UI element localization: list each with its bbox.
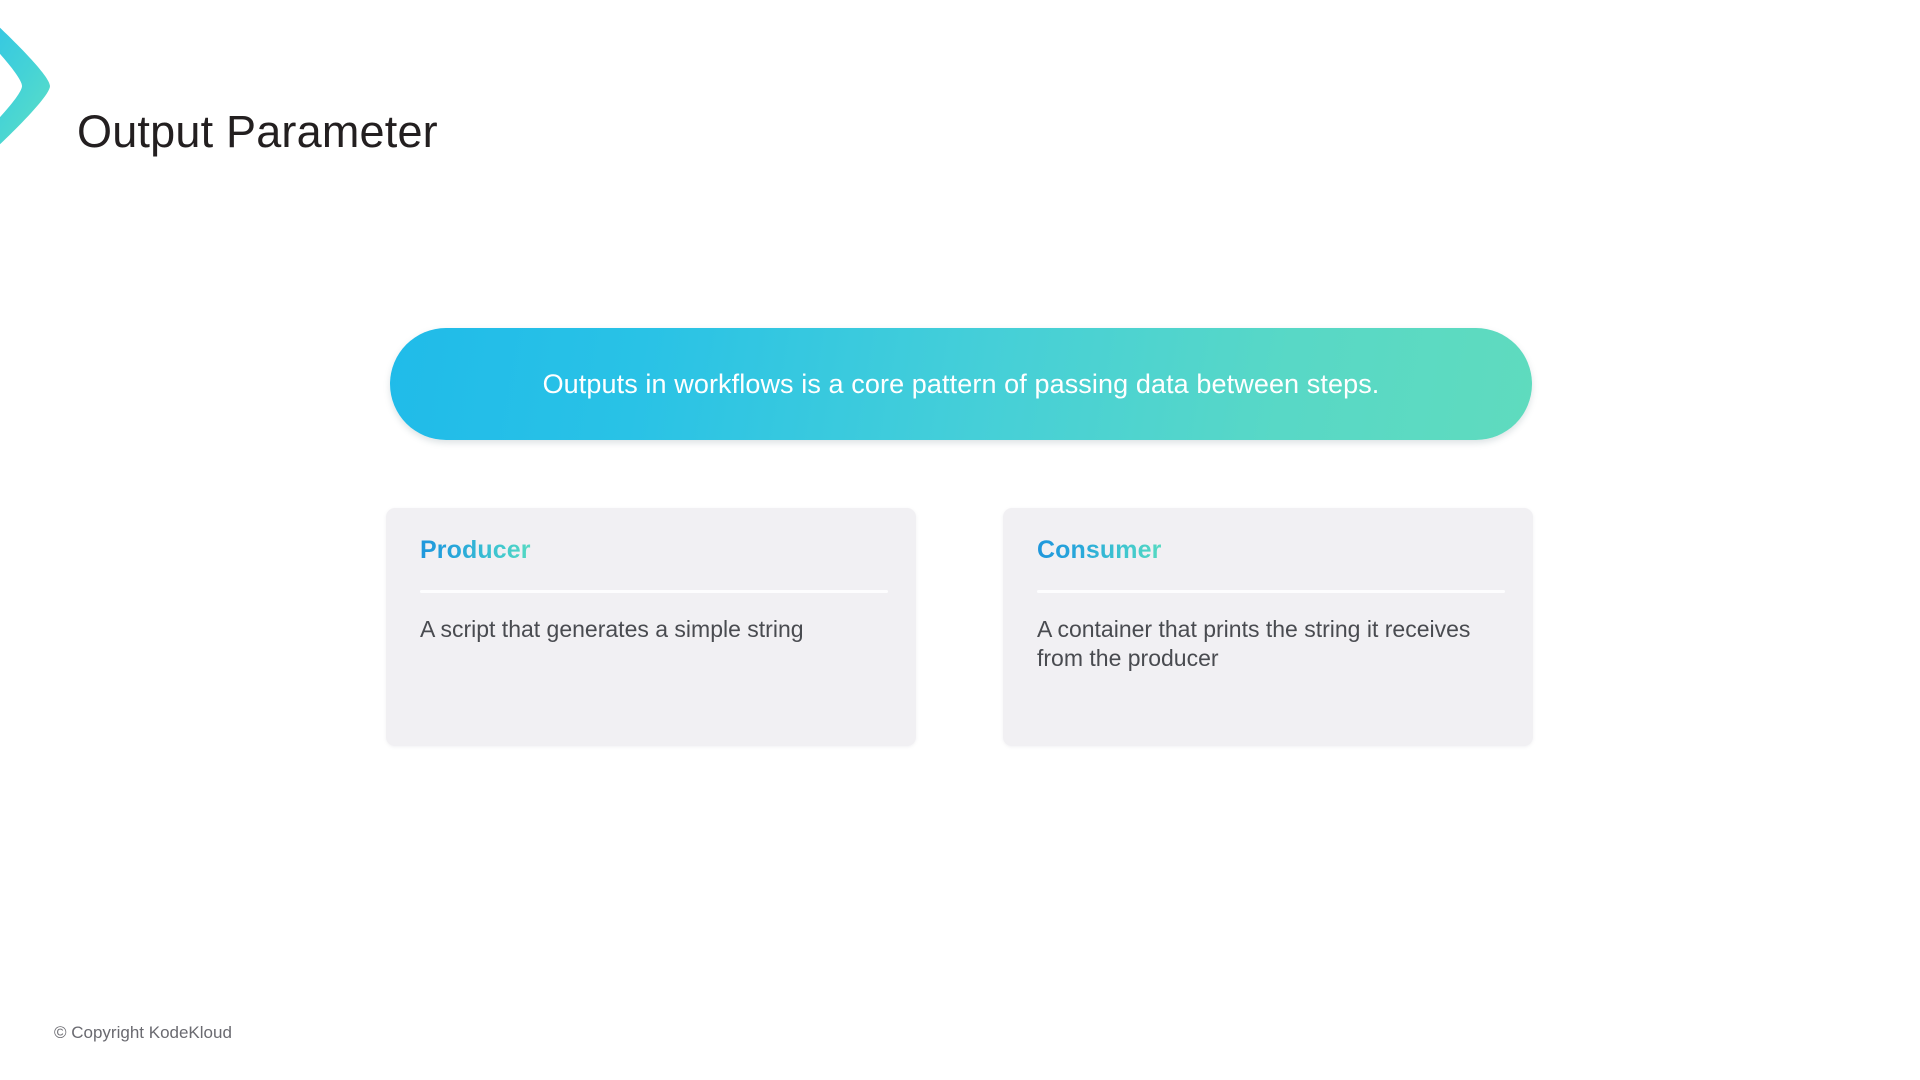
highlight-banner: Outputs in workflows is a core pattern o…: [390, 328, 1532, 440]
concept-card-producer: Producer A script that generates a simpl…: [386, 508, 916, 746]
chevron-right-logo-icon: [0, 22, 62, 150]
concept-card-producer-body: A script that generates a simple string: [420, 615, 882, 644]
concept-card-consumer-title: Consumer: [1037, 536, 1161, 565]
highlight-banner-text: Outputs in workflows is a core pattern o…: [503, 369, 1420, 400]
concept-cards-row: Producer A script that generates a simpl…: [386, 508, 1533, 746]
concept-card-producer-title: Producer: [420, 536, 531, 565]
concept-card-consumer-divider: [1037, 590, 1505, 593]
concept-card-producer-divider: [420, 590, 888, 593]
page-title: Output Parameter: [77, 106, 438, 158]
concept-card-consumer: Consumer A container that prints the str…: [1003, 508, 1533, 746]
concept-card-consumer-body: A container that prints the string it re…: [1037, 615, 1499, 674]
footer-copyright: © Copyright KodeKloud: [54, 1023, 232, 1043]
